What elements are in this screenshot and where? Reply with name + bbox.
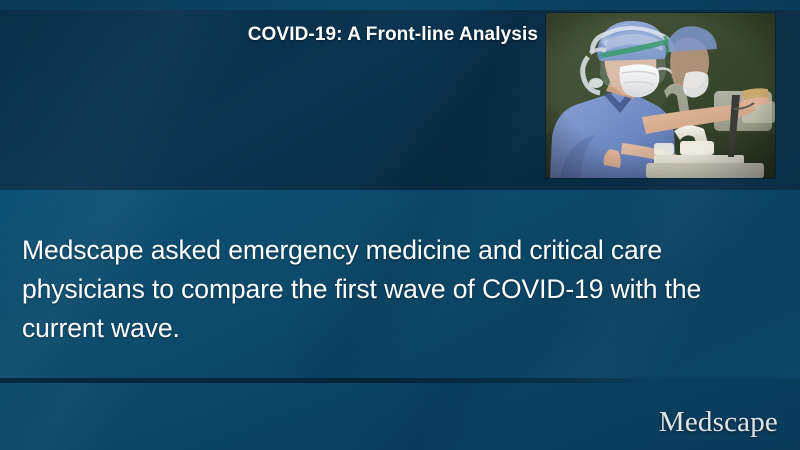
- hero-photo: [546, 13, 775, 178]
- medscape-logo: Medscape: [659, 406, 778, 439]
- slide-title: COVID-19: A Front-line Analysis: [0, 24, 538, 46]
- slide-canvas: COVID-19: A Front-line Analysis: [0, 0, 800, 450]
- top-accent-strip: [0, 0, 800, 10]
- body-paragraph: Medscape asked emergency medicine and cr…: [22, 231, 742, 348]
- footer-divider-rule: [0, 378, 648, 383]
